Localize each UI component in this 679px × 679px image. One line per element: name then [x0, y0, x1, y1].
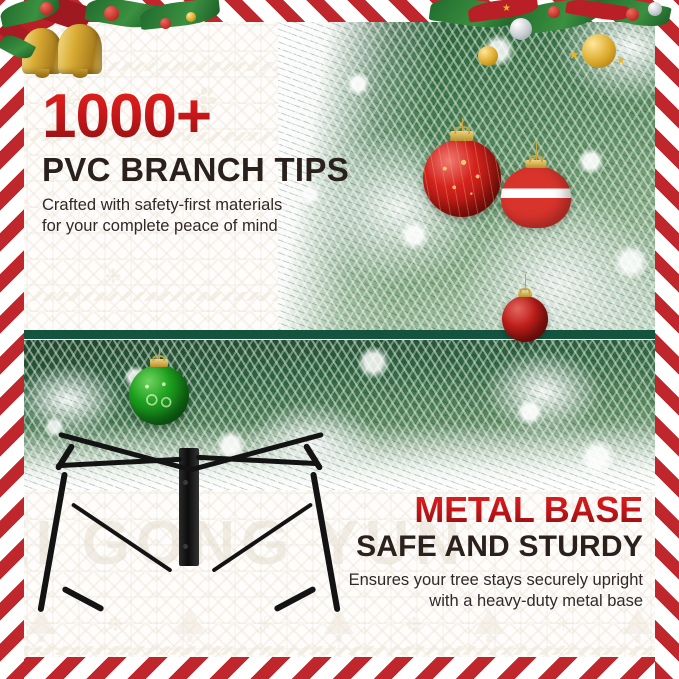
- red-berry-icon: [626, 8, 639, 21]
- candy-cane-border-left: [0, 0, 24, 679]
- metal-tree-stand: [44, 446, 334, 616]
- red-berry-icon: [160, 18, 171, 29]
- red-matte-ornament: [502, 296, 548, 342]
- bottom-description-line-2: with a heavy-duty metal base: [313, 591, 643, 613]
- gold-ball-icon: [582, 34, 616, 68]
- gold-star-icon: ★: [568, 48, 580, 61]
- christmas-garland-decor: ★ ★ ★: [0, 0, 679, 92]
- ornament-cap: [518, 291, 532, 297]
- snowflake-icon: ❉: [406, 615, 423, 635]
- top-description-line-2: for your complete peace of mind: [42, 216, 362, 238]
- headline-pvc-branch-tips: PVC BRANCH TIPS: [42, 153, 362, 188]
- stand-bolt: [183, 480, 188, 485]
- red-glitter-ornament: [423, 139, 501, 217]
- top-feature-text-block: 1000+ PVC BRANCH TIPS Crafted with safet…: [42, 88, 362, 238]
- ornament-swirl-pattern: [129, 365, 189, 425]
- bottom-feature-text-block: METAL BASE SAFE AND STURDY Ensures your …: [313, 492, 643, 613]
- gold-star-icon: ★: [502, 4, 511, 14]
- ornament-cap: [526, 160, 547, 168]
- stand-bolt: [183, 544, 188, 549]
- stand-brace: [211, 502, 313, 572]
- red-berry-icon: [548, 6, 560, 18]
- gold-star-icon: ★: [616, 56, 626, 67]
- stand-foot: [273, 586, 316, 613]
- snowflake-icon: ✳: [256, 615, 273, 635]
- headline-safe-and-sturdy: SAFE AND STURDY: [313, 531, 643, 563]
- snowflake-icon: ❉: [107, 615, 124, 635]
- headline-branch-tip-count: 1000+: [42, 88, 362, 147]
- pine-tree-motif: [474, 608, 504, 642]
- striped-ornament: [501, 166, 571, 228]
- product-infographic: ✳ ❉ ✳ ❉ ✳ ❉ ✳ ❉ ❉ ✳: [0, 0, 679, 679]
- red-berry-icon: [104, 6, 119, 21]
- stand-support: [56, 457, 182, 469]
- top-description-line-1: Crafted with safety-first materials: [42, 195, 362, 217]
- stand-foot: [303, 443, 324, 472]
- silver-ball-icon: [648, 2, 662, 16]
- bottom-description-line-1: Ensures your tree stays securely upright: [313, 570, 643, 592]
- gold-ball-icon: [186, 12, 196, 22]
- snowflake-icon: ✳: [555, 615, 572, 635]
- candy-cane-border-bottom: [0, 657, 679, 679]
- pine-tree-motif: [623, 608, 653, 642]
- red-berry-icon: [40, 2, 53, 15]
- silver-ball-icon: [510, 18, 532, 40]
- section-divider: [0, 330, 679, 339]
- candy-cane-border-right: [655, 0, 679, 679]
- stand-brace: [71, 502, 173, 572]
- snowflake-icon: ❉: [105, 267, 122, 287]
- gold-bell-icon: [58, 24, 102, 74]
- green-glitter-ornament: [129, 365, 189, 425]
- stand-foot: [61, 586, 104, 613]
- headline-metal-base: METAL BASE: [313, 492, 643, 528]
- gold-ball-icon: [478, 46, 498, 66]
- ornament-glitter-pattern: [423, 139, 501, 217]
